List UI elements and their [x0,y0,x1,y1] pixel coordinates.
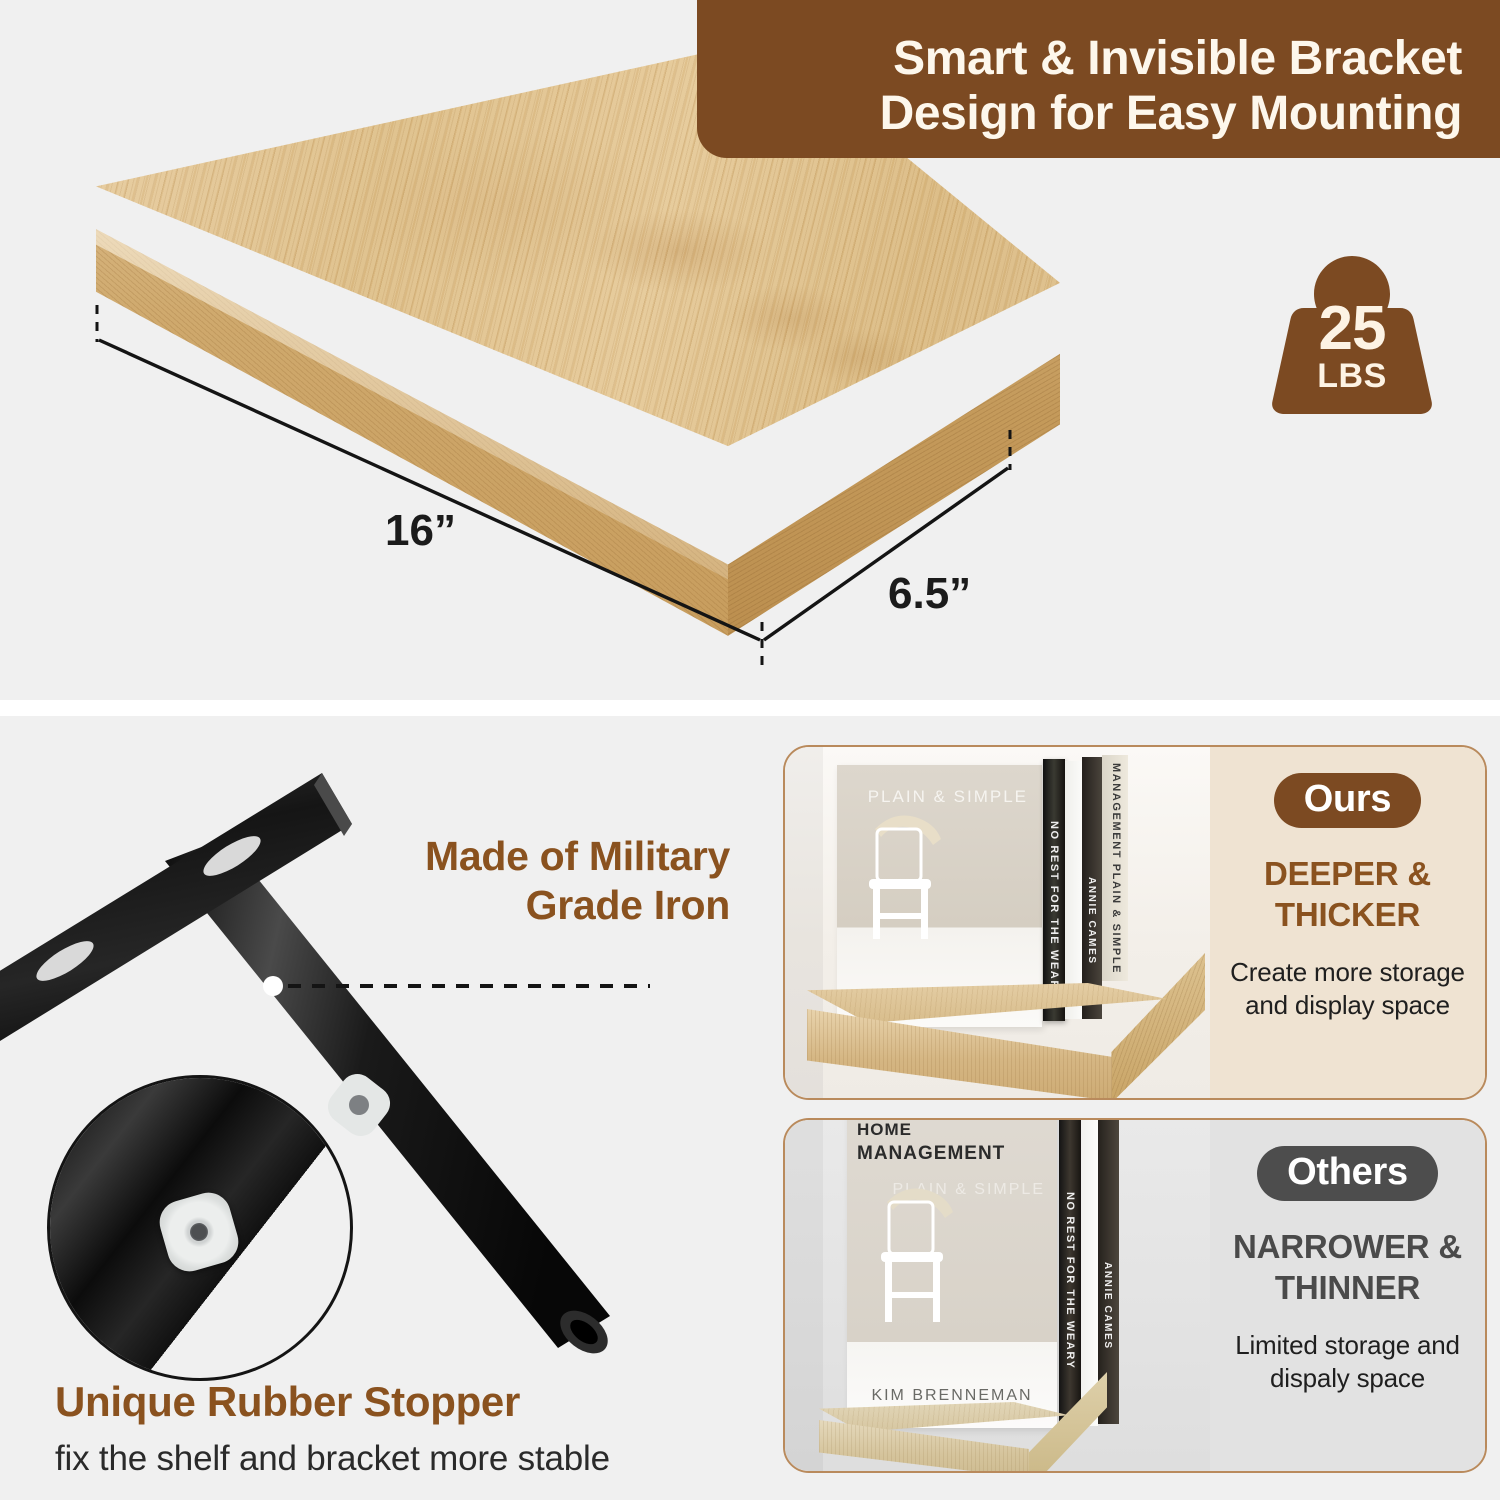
stopper-subtitle: fix the shelf and bracket more stable [55,1438,755,1480]
comparison-card-ours: PLAIN & SIMPLE KIM BRENNEMAN NO REST FOR… [783,745,1487,1100]
heading-others: NARROWER & THINNER [1210,1227,1485,1309]
book-spine-black-2: NO REST FOR THE WEARY [1059,1120,1081,1428]
wall-left-shadow-2 [785,1120,823,1471]
dim-line-length [99,340,760,640]
dimension-length-label: 16” [385,506,456,555]
chair-illustration-2 [867,1174,979,1336]
callout-dot [263,976,283,996]
spine-text-right: MANAGEMENT PLAIN & SIMPLE [1110,763,1122,974]
dimension-depth-label: 6.5” [888,569,971,618]
military-line2: Grade Iron [300,881,730,930]
military-grade-text: Made of Military Grade Iron [300,832,730,930]
infographic-page: 16” 6.5” 25 LBS Smart & Invisible Bracke… [0,0,1500,1500]
spine-text-small-2: ANNIE CAMES [1102,1262,1113,1350]
spine-text-small: ANNIE CAMES [1086,877,1097,965]
book-spine-white-2 [1081,1120,1098,1426]
body-others: Limited storage and dispaly space [1210,1329,1485,1396]
spine-text-black: NO REST FOR THE WEARY [1048,821,1060,998]
magnifier-circle [47,1075,353,1381]
heading-ours: DEEPER & THICKER [1210,854,1485,936]
rubber-stopper-text-block: Unique Rubber Stopper fix the shelf and … [55,1378,755,1480]
book-author-2: KIM BRENNEMAN [847,1386,1057,1406]
header-title-line2: Design for Easy Mounting [747,87,1462,142]
header-banner: Smart & Invisible Bracket Design for Eas… [697,0,1500,158]
dim-line-depth [764,468,1008,640]
book-spine-dark2: ANNIE CAMES [1082,757,1102,1019]
body-ours: Create more storage and display space [1210,956,1485,1023]
book-title-main: MANAGEMENT [857,1142,1005,1165]
section-divider [0,700,1500,716]
badge-others: Others [1257,1146,1438,1201]
panel-others: Others NARROWER & THINNER Limited storag… [1210,1120,1485,1471]
book-spine-black: NO REST FOR THE WEARY [1043,759,1065,1021]
badge-ours: Ours [1274,773,1422,828]
military-line1: Made of Military [300,832,730,881]
photo-others: HOME MANAGEMENT PLAIN & SIMPLE KIM BRENN… [785,1120,1210,1471]
stopper-title: Unique Rubber Stopper [55,1378,755,1426]
top-panel: 16” 6.5” 25 LBS Smart & Invisible Bracke… [0,0,1500,700]
comparison-card-others: HOME MANAGEMENT PLAIN & SIMPLE KIM BRENN… [783,1118,1487,1473]
stopper-center-hole [349,1095,369,1115]
book-spine-white [1065,761,1082,1019]
weight-icon [1272,252,1432,414]
panel-ours: Ours DEEPER & THICKER Create more storag… [1210,747,1485,1098]
book-title-top: HOME [857,1120,912,1141]
book-front-cover-2: HOME MANAGEMENT PLAIN & SIMPLE KIM BRENN… [847,1120,1057,1428]
photo-ours: PLAIN & SIMPLE KIM BRENNEMAN NO REST FOR… [785,747,1210,1098]
spine-text-black-2: NO REST FOR THE WEARY [1064,1192,1076,1369]
header-title-line1: Smart & Invisible Bracket [747,32,1462,87]
book-spine-right: MANAGEMENT PLAIN & SIMPLE [1102,755,1128,981]
chair-illustration [855,801,965,951]
